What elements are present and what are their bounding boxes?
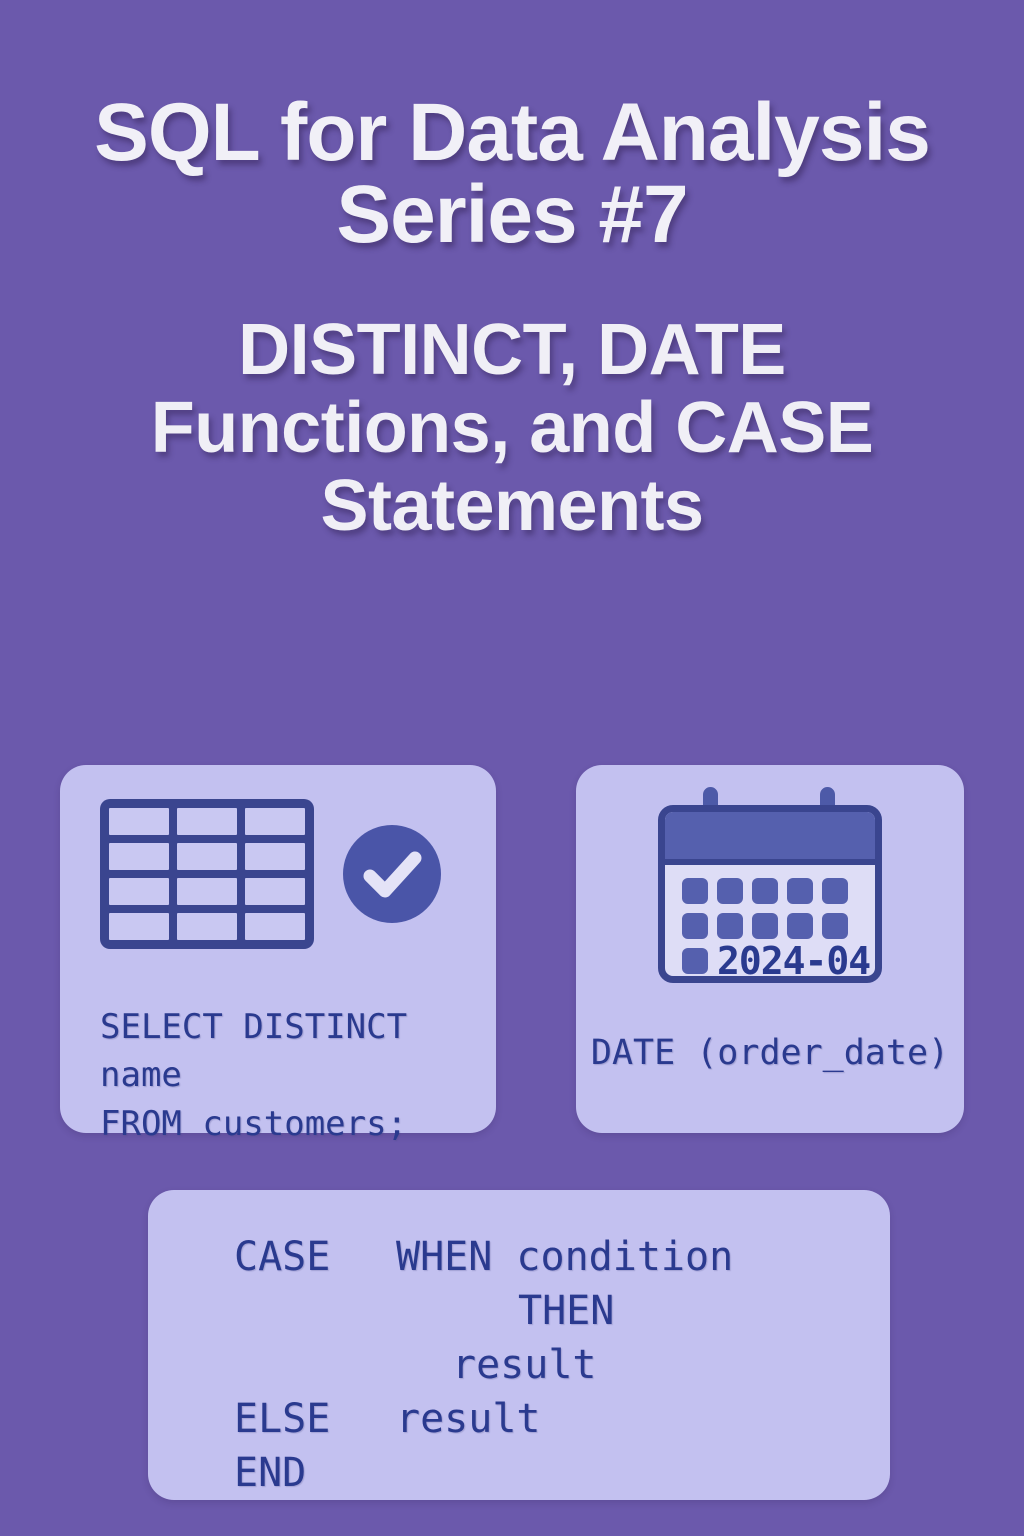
distinct-code-snippet: SELECT DISTINCT name FROM customers; [100,1003,407,1148]
table-cell [245,808,305,835]
table-cell [245,913,305,940]
calendar-day [682,948,708,974]
case-keyword: END [148,1446,386,1500]
calendar-wrap: 2024-04 [576,787,964,983]
card-date: 2024-04 DATE (order_date) [576,765,964,1133]
calendar-day [717,878,743,904]
case-line: result [148,1338,890,1392]
calendar-day [822,878,848,904]
table-cell [109,878,169,905]
table-cell [177,808,237,835]
case-line: THEN [148,1284,890,1338]
table-cell [109,843,169,870]
table-cell [245,878,305,905]
cards-row: SELECT DISTINCT name FROM customers; [0,765,1024,1135]
case-value: result [386,1338,890,1392]
calendar-body: 2024-04 [658,805,882,983]
card-case: CASE WHEN condition THEN result ELSE res… [148,1190,890,1500]
page-subtitle: DISTINCT, DATE Functions, and CASE State… [48,312,976,545]
calendar-day [822,913,848,939]
header: SQL for Data Analysis Series #7 DISTINCT… [0,0,1024,545]
table-cell [177,878,237,905]
table-cell [109,913,169,940]
calendar-day [682,913,708,939]
calendar-day-grid: 2024-04 [665,865,875,974]
calendar-day [787,878,813,904]
card-distinct: SELECT DISTINCT name FROM customers; [60,765,496,1133]
table-cell [245,843,305,870]
calendar-day [717,913,743,939]
calendar-icon: 2024-04 [658,787,882,983]
table-cell [109,808,169,835]
case-line: END [148,1446,890,1500]
case-value: result [386,1392,890,1446]
table-cell [177,913,237,940]
case-line: CASE WHEN condition [148,1230,890,1284]
check-circle-icon [343,825,441,923]
case-keyword: CASE [148,1230,386,1284]
case-statement-block: CASE WHEN condition THEN result ELSE res… [148,1230,890,1500]
case-value: THEN [386,1284,890,1338]
date-function-label: DATE (order_date) [576,1033,964,1073]
table-cell [177,843,237,870]
calendar-day [787,913,813,939]
table-grid-icon [100,799,314,949]
case-value: WHEN condition [386,1230,890,1284]
calendar-date-text: 2024-04 [717,939,870,983]
calendar-day [752,878,778,904]
calendar-day [752,913,778,939]
page-title: SQL for Data Analysis Series #7 [48,92,976,256]
case-keyword: ELSE [148,1392,386,1446]
calendar-day [682,878,708,904]
distinct-icon-row [100,797,470,955]
calendar-header-band [665,812,875,865]
case-line: ELSE result [148,1392,890,1446]
